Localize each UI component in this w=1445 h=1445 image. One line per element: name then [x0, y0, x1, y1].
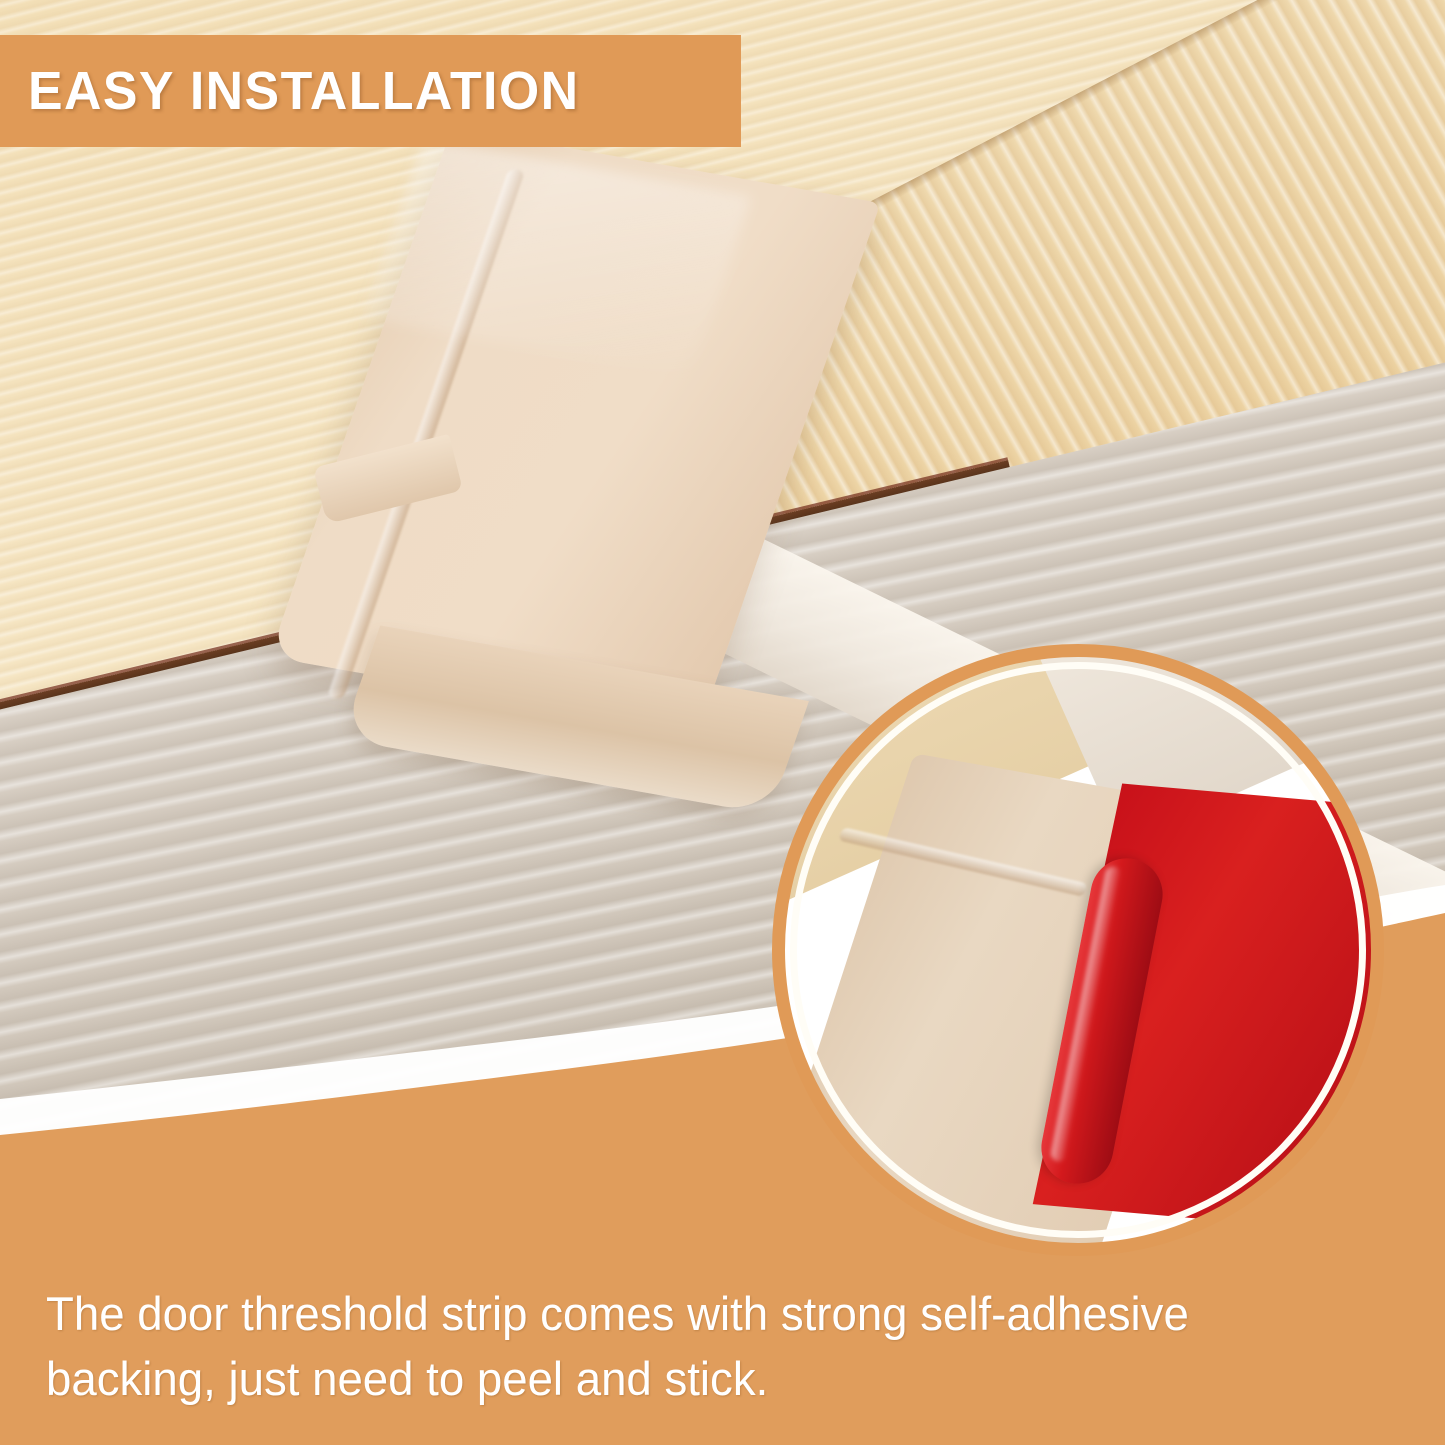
- product-marketing-image: EASY INSTALLATION The door threshold str…: [0, 0, 1445, 1445]
- caption-text: The door threshold strip comes with stro…: [46, 1282, 1364, 1412]
- banner-title: EASY INSTALLATION: [28, 60, 580, 122]
- header-banner: EASY INSTALLATION: [0, 35, 741, 147]
- adhesive-detail-inset: [778, 650, 1378, 1250]
